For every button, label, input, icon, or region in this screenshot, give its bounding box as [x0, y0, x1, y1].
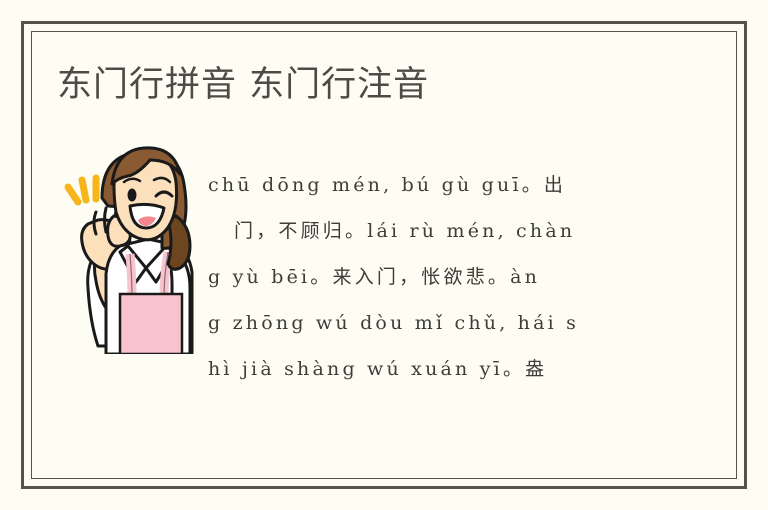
text-line: g yù bēi。来入门，怅欲悲。àn: [208, 254, 720, 300]
pinyin-body-text: chū dōng mén, bú gù guī。出 门，不顾归。lái rù m…: [208, 162, 720, 392]
cartoon-woman-ok-gesture-illustration: [58, 142, 206, 354]
text-line: 门，不顾归。lái rù mén, chàn: [208, 208, 720, 254]
text-line: hì jià shàng wú xuán yī。盎: [208, 346, 720, 392]
page-title: 东门行拼音 东门行注音: [57, 62, 429, 108]
page-root: 东门行拼音 东门行注音: [0, 0, 768, 510]
sparkle-icon: [68, 178, 96, 202]
text-line: chū dōng mén, bú gù guī。出: [208, 162, 720, 208]
text-line: g zhōng wú dòu mǐ chǔ, hái s: [208, 300, 720, 346]
